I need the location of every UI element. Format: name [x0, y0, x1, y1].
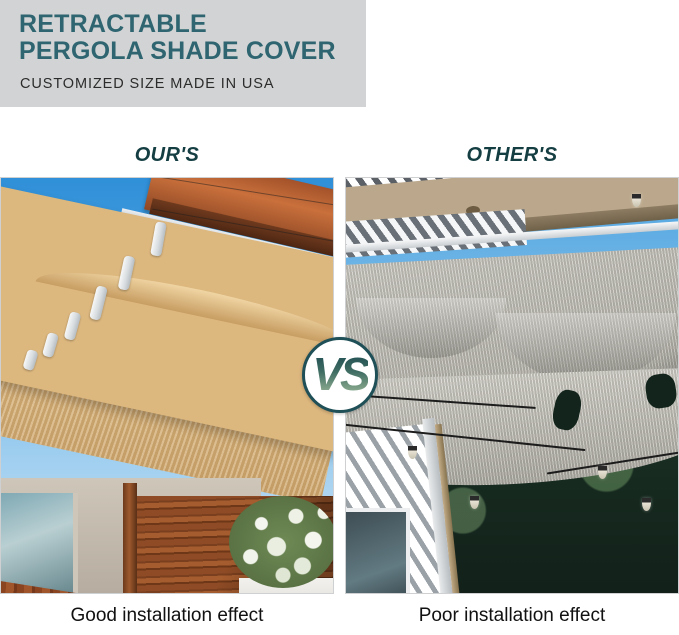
photo-panel-ours [0, 177, 334, 594]
caption-poor-installation: Poor installation effect [345, 605, 679, 627]
column-heading-ours: OUR'S [0, 144, 334, 167]
header-subtitle: CUSTOMIZED SIZE MADE IN USA [20, 76, 366, 92]
glass-sliding-door [1, 493, 78, 593]
pergola-post [123, 483, 137, 593]
scene-poor-installation [346, 178, 678, 593]
flowering-tree [229, 496, 333, 588]
window [346, 508, 410, 593]
page-title: RETRACTABLE PERGOLA SHADE COVER [19, 11, 366, 65]
header-banner: RETRACTABLE PERGOLA SHADE COVER CUSTOMIZ… [0, 0, 366, 107]
column-heading-others: OTHER'S [345, 144, 679, 167]
product-comparison-image: RETRACTABLE PERGOLA SHADE COVER CUSTOMIZ… [0, 0, 679, 635]
photo-panel-others [345, 177, 679, 594]
scene-good-installation [1, 178, 333, 593]
versus-badge: VS [302, 337, 378, 413]
versus-label: VS [312, 351, 367, 397]
caption-good-installation: Good installation effect [0, 605, 334, 627]
